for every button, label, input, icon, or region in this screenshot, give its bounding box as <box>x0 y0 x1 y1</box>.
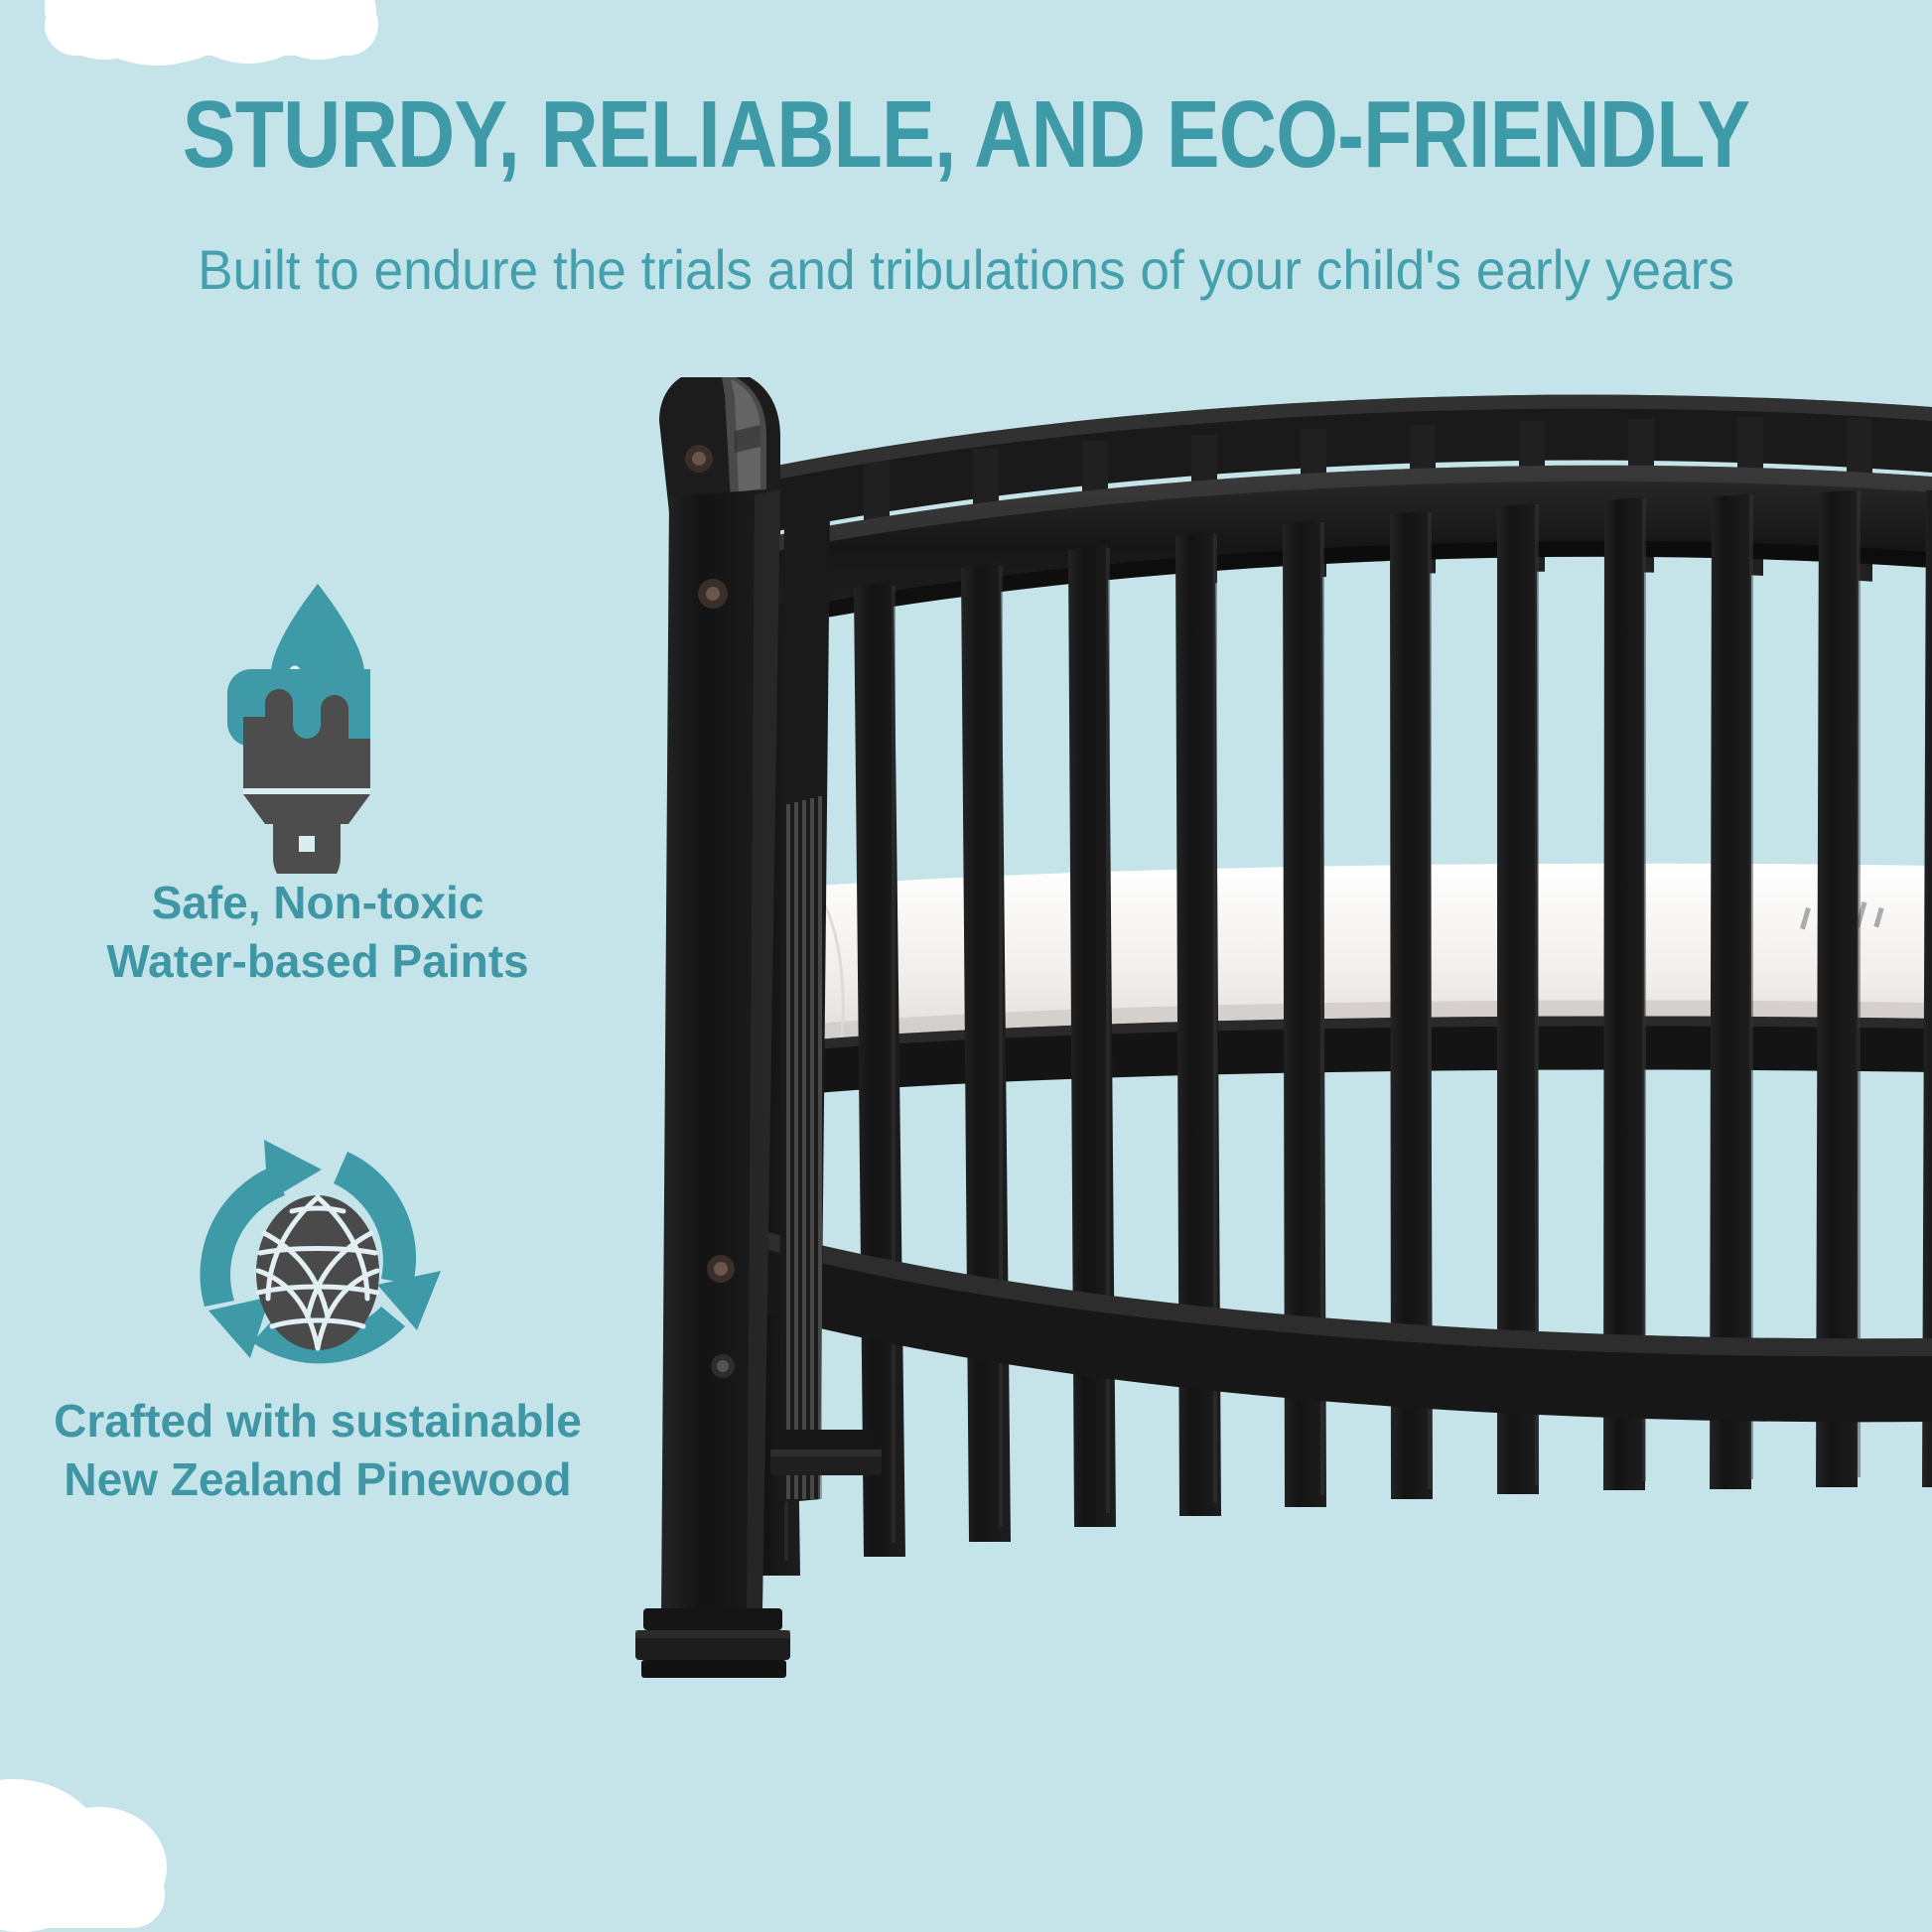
paint-brush-water-drop-icon <box>204 576 432 874</box>
feature-caption: Crafted with sustainable New Zealand Pin… <box>10 1392 625 1509</box>
feature-safe-paints: Safe, Non-toxic Water-based Paints <box>10 576 625 991</box>
promo-banner: STURDY, RELIABLE, AND ECO-FRIENDLY Built… <box>0 0 1932 1932</box>
page-title: STURDY, RELIABLE, AND ECO-FRIENDLY <box>155 87 1778 183</box>
product-image-crib <box>635 377 1932 1847</box>
feature-caption: Safe, Non-toxic Water-based Paints <box>10 874 625 991</box>
recycle-pinecone-icon <box>169 1122 467 1392</box>
cloud-top-left <box>45 0 382 58</box>
cloud-bottom-left <box>0 1779 222 1928</box>
page-subtitle: Built to endure the trials and tribulati… <box>49 241 1884 300</box>
feature-sustainable-wood: Crafted with sustainable New Zealand Pin… <box>10 1122 625 1509</box>
